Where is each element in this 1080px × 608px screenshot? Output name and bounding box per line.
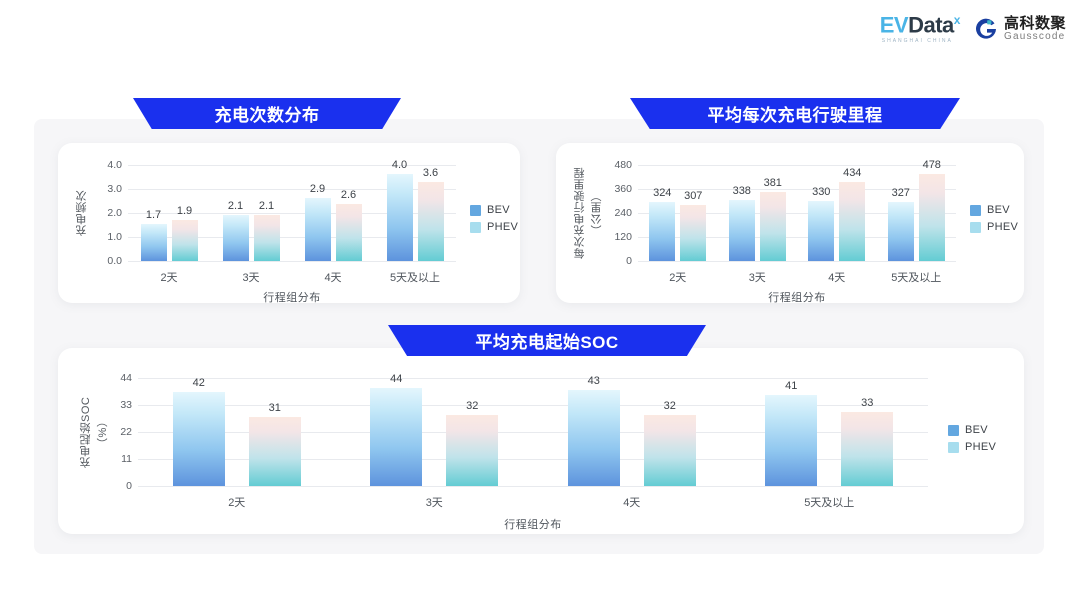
chart-avg-distance-per-charge: 4803602401200每次充电行驶里程（公里）3243072天3383813… [556, 143, 1024, 303]
gausscode-g-mark-icon [974, 17, 998, 41]
bar-bev-1 [729, 200, 755, 261]
bar-phev-1 [760, 192, 786, 261]
slide-canvas: EVDatax SHANGHAI CHINA 高科数聚 Gausscode 4.… [0, 0, 1080, 608]
x-axis-category-label: 4天 [828, 269, 845, 285]
legend-label-bev: BEV [487, 204, 510, 216]
x-axis-title: 行程组分布 [504, 516, 562, 532]
legend-swatch-phev-icon [948, 442, 959, 453]
legend-item-phev[interactable]: PHEV [970, 221, 1018, 233]
y-axis-tick-label: 11 [110, 453, 132, 465]
bar-phev-2 [644, 415, 696, 486]
evdata-wordmark-data: Data [908, 12, 954, 37]
bar-phev-1 [254, 215, 280, 261]
legend-label-bev: BEV [965, 424, 988, 436]
x-axis-category-label: 3天 [749, 269, 766, 285]
bar-value-label: 434 [843, 167, 861, 179]
bar-value-label: 4.0 [392, 159, 407, 171]
chart-title-banner-avg-start-soc: 平均充电起始SOC [388, 325, 706, 356]
bar-value-label: 2.6 [341, 189, 356, 201]
x-axis-category-label: 5天及以上 [390, 269, 440, 285]
y-axis-tick-label: 3.0 [100, 183, 122, 195]
y-axis-tick-label: 44 [110, 372, 132, 384]
bar-value-label: 44 [390, 373, 402, 385]
bar-value-label: 307 [684, 190, 702, 202]
y-axis-title: 充电起始SOC（%） [78, 378, 111, 486]
y-axis-tick-label: 22 [110, 426, 132, 438]
bar-value-label: 32 [664, 400, 676, 412]
y-axis-title: 每次充电行驶里程（公里） [572, 165, 605, 261]
legend-swatch-phev-icon [470, 222, 481, 233]
bar-value-label: 32 [466, 400, 478, 412]
chart-card-charging-frequency: 4.03.02.01.00.0充电频次1.71.92天2.12.13天2.92.… [58, 143, 520, 303]
evdata-wordmark-ev: EV [880, 12, 908, 37]
y-axis-tick-label: 0 [608, 255, 632, 267]
bar-bev-2 [568, 390, 620, 486]
bar-phev-3 [418, 182, 444, 261]
bar-value-label: 3.6 [423, 167, 438, 179]
legend-item-bev[interactable]: BEV [948, 424, 996, 436]
y-axis-tick-label: 33 [110, 399, 132, 411]
y-axis-tick-label: 0.0 [100, 255, 122, 267]
evdata-superscript-icon: x [954, 13, 960, 27]
bar-value-label: 478 [923, 159, 941, 171]
bar-phev-3 [919, 174, 945, 261]
x-axis-title: 行程组分布 [263, 289, 321, 305]
x-axis-category-label: 5天及以上 [891, 269, 941, 285]
legend-swatch-phev-icon [970, 222, 981, 233]
bar-phev-2 [839, 182, 865, 261]
bar-phev-0 [680, 205, 706, 261]
bar-bev-2 [808, 201, 834, 261]
x-axis-category-label: 2天 [228, 494, 245, 510]
legend-swatch-bev-icon [470, 205, 481, 216]
gridline [138, 378, 928, 379]
legend-item-bev[interactable]: BEV [470, 204, 518, 216]
gausscode-name-cn: 高科数聚 [1004, 16, 1066, 32]
legend-label-phev: PHEV [987, 221, 1018, 233]
chart-legend: BEVPHEV [970, 204, 1018, 233]
bar-bev-0 [649, 202, 675, 261]
y-axis-tick-label: 120 [608, 231, 632, 243]
bar-value-label: 327 [892, 187, 910, 199]
chart-legend: BEVPHEV [948, 424, 996, 453]
chart-card-avg-start-soc: 443322110充电起始SOC（%）42312天44323天43324天413… [58, 348, 1024, 534]
y-axis-tick-label: 1.0 [100, 231, 122, 243]
y-axis-tick-label: 0 [110, 480, 132, 492]
bar-value-label: 330 [812, 186, 830, 198]
bar-value-label: 2.1 [228, 200, 243, 212]
bar-value-label: 2.9 [310, 183, 325, 195]
evdata-logo: EVDatax SHANGHAI CHINA [880, 14, 960, 44]
bar-value-label: 41 [785, 380, 797, 392]
gridline [638, 165, 956, 166]
x-axis-category-label: 3天 [426, 494, 443, 510]
legend-label-phev: PHEV [487, 221, 518, 233]
evdata-wordmark: EVDatax [880, 14, 960, 36]
bar-bev-3 [765, 395, 817, 486]
bar-value-label: 42 [193, 377, 205, 389]
bar-bev-0 [173, 392, 225, 486]
x-axis-title: 行程组分布 [768, 289, 826, 305]
bar-phev-3 [841, 412, 893, 486]
bar-value-label: 31 [269, 402, 281, 414]
chart-charging-frequency: 4.03.02.01.00.0充电频次1.71.92天2.12.13天2.92.… [58, 143, 520, 303]
bar-value-label: 1.9 [177, 205, 192, 217]
bar-bev-3 [387, 174, 413, 261]
x-axis-category-label: 2天 [669, 269, 686, 285]
gridline [128, 261, 456, 262]
legend-item-phev[interactable]: PHEV [470, 221, 518, 233]
bar-phev-1 [446, 415, 498, 486]
bar-value-label: 43 [588, 375, 600, 387]
bar-bev-3 [888, 202, 914, 261]
bar-value-label: 33 [861, 397, 873, 409]
legend-item-bev[interactable]: BEV [970, 204, 1018, 216]
gridline [138, 486, 928, 487]
evdata-tagline: SHANGHAI CHINA [880, 39, 953, 44]
bar-value-label: 2.1 [259, 200, 274, 212]
legend-item-phev[interactable]: PHEV [948, 441, 996, 453]
y-axis-title-line-0: 每次充电行驶里程 [572, 165, 588, 261]
bar-value-label: 324 [653, 187, 671, 199]
legend-label-bev: BEV [987, 204, 1010, 216]
y-axis-title-line-1: （%） [95, 378, 111, 486]
legend-swatch-bev-icon [970, 205, 981, 216]
y-axis-tick-label: 240 [608, 207, 632, 219]
logo-bar: EVDatax SHANGHAI CHINA 高科数聚 Gausscode [880, 14, 1066, 44]
y-axis-tick-label: 360 [608, 183, 632, 195]
bar-phev-0 [172, 220, 198, 261]
bar-phev-2 [336, 204, 362, 261]
x-axis-category-label: 2天 [160, 269, 177, 285]
chart-avg-start-soc: 443322110充电起始SOC（%）42312天44323天43324天413… [58, 348, 1024, 534]
chart-title-banner-avg-distance-per-charge: 平均每次充电行驶里程 [630, 98, 960, 129]
legend-label-phev: PHEV [965, 441, 996, 453]
y-axis-title: 充电频次 [74, 165, 90, 261]
gausscode-wordmark: 高科数聚 Gausscode [1004, 16, 1066, 42]
bar-phev-0 [249, 417, 301, 486]
x-axis-category-label: 5天及以上 [804, 494, 854, 510]
x-axis-category-label: 3天 [242, 269, 259, 285]
bar-value-label: 381 [764, 177, 782, 189]
y-axis-tick-label: 480 [608, 159, 632, 171]
bar-bev-1 [370, 388, 422, 486]
chart-card-avg-distance-per-charge: 4803602401200每次充电行驶里程（公里）3243072天3383813… [556, 143, 1024, 303]
chart-title-banner-charging-frequency: 充电次数分布 [133, 98, 401, 129]
bar-value-label: 338 [733, 185, 751, 197]
y-axis-title-line-0: 充电起始SOC [78, 378, 94, 486]
y-axis-tick-label: 2.0 [100, 207, 122, 219]
bar-bev-2 [305, 198, 331, 261]
gausscode-logo: 高科数聚 Gausscode [974, 16, 1066, 42]
y-axis-title-line-1: （公里） [589, 165, 605, 261]
legend-swatch-bev-icon [948, 425, 959, 436]
bar-bev-0 [141, 224, 167, 261]
y-axis-tick-label: 4.0 [100, 159, 122, 171]
x-axis-category-label: 4天 [324, 269, 341, 285]
bar-bev-1 [223, 215, 249, 261]
chart-legend: BEVPHEV [470, 204, 518, 233]
gridline [638, 261, 956, 262]
x-axis-category-label: 4天 [623, 494, 640, 510]
bar-value-label: 1.7 [146, 209, 161, 221]
gausscode-name-en: Gausscode [1004, 32, 1066, 43]
